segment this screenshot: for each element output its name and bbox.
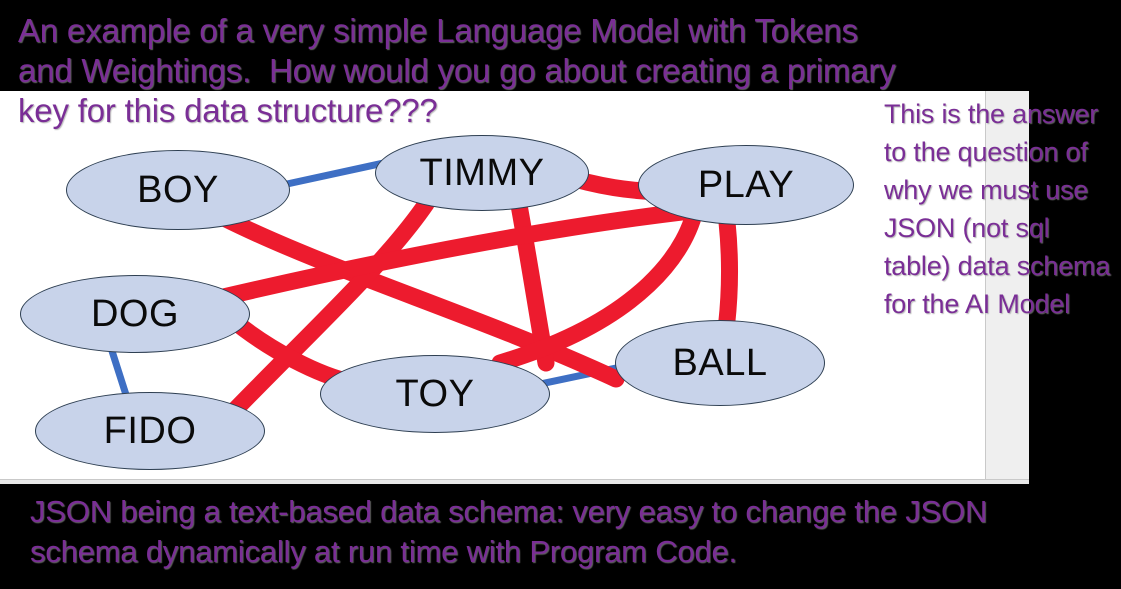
node-ball[interactable]: BALL xyxy=(615,320,825,406)
node-boy[interactable]: BOY xyxy=(66,150,290,230)
node-label-boy: BOY xyxy=(137,169,219,212)
side-note-annotation: This is the answer to the question of wh… xyxy=(884,95,1114,323)
node-dog[interactable]: DOG xyxy=(20,275,250,353)
node-label-toy: TOY xyxy=(396,373,475,416)
node-timmy[interactable]: TIMMY xyxy=(375,135,589,211)
slide-canvas: BOY TIMMY PLAY DOG BALL TOY FIDO An exam… xyxy=(0,0,1121,589)
slide-title-annotation: An example of a very simple Language Mod… xyxy=(18,11,898,131)
node-label-play: PLAY xyxy=(698,164,794,207)
node-label-dog: DOG xyxy=(91,293,179,336)
node-label-ball: BALL xyxy=(673,342,768,385)
node-label-timmy: TIMMY xyxy=(420,152,545,195)
node-label-fido: FIDO xyxy=(104,410,197,453)
language-model-graph: BOY TIMMY PLAY DOG BALL TOY FIDO xyxy=(0,91,1029,483)
bottom-note-annotation: JSON being a text-based data schema: ver… xyxy=(30,492,1100,572)
node-toy[interactable]: TOY xyxy=(320,355,550,433)
node-play[interactable]: PLAY xyxy=(638,145,854,225)
node-fido[interactable]: FIDO xyxy=(35,392,265,470)
